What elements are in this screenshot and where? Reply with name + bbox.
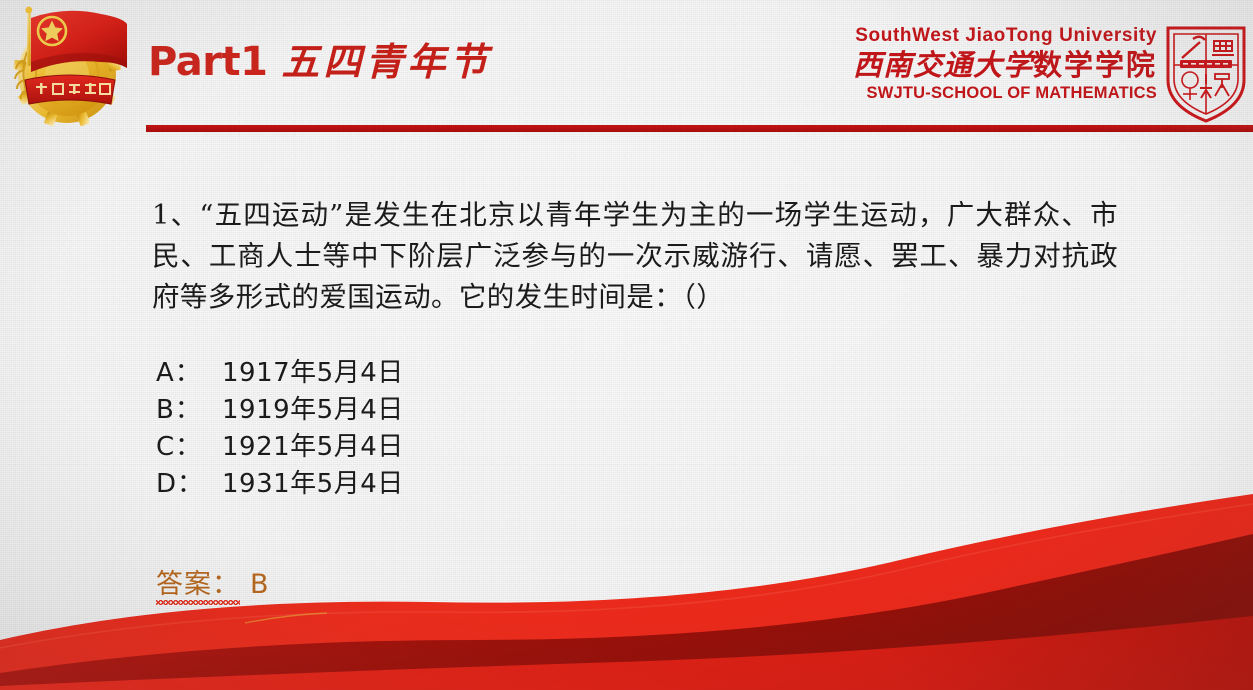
option-text-a: 1917年5月4日	[222, 352, 404, 389]
brand-chinese: 西南交通大学数学学院	[853, 51, 1157, 80]
page-title-cjk: 五四青年节	[281, 39, 491, 84]
option-key-d: D：	[156, 463, 222, 500]
answer-label: 答案：	[156, 569, 240, 603]
swjtu-shield-logo	[1163, 22, 1249, 126]
communist-youth-league-emblem	[5, 4, 137, 132]
page-title-latin: Part1	[148, 39, 267, 85]
option-text-d: 1931年5月4日	[222, 463, 404, 500]
option-key-a: A：	[156, 352, 222, 389]
options-list: A： 1917年5月4日 B： 1919年5月4日 C： 1921年5月4日 D…	[156, 352, 404, 500]
slide-header: Part1五四青年节 SouthWest JiaoTong University…	[0, 0, 1253, 140]
option-key-c: C：	[156, 426, 222, 463]
option-row-b[interactable]: B： 1919年5月4日	[156, 389, 404, 426]
option-row-a[interactable]: A： 1917年5月4日	[156, 352, 404, 389]
brand-english-bottom: SWJTU-SCHOOL OF MATHEMATICS	[853, 85, 1157, 102]
header-divider	[146, 125, 1253, 132]
option-row-d[interactable]: D： 1931年5月4日	[156, 463, 404, 500]
brand-chinese-department: 数学学院	[1033, 48, 1157, 82]
page-title: Part1五四青年节	[148, 42, 491, 82]
university-brand: SouthWest JiaoTong University 西南交通大学数学学院…	[853, 26, 1157, 102]
brand-chinese-university: 西南交通大学	[853, 48, 1033, 82]
option-text-b: 1919年5月4日	[222, 389, 404, 426]
option-text-c: 1921年5月4日	[222, 426, 404, 463]
option-key-b: B：	[156, 389, 222, 426]
question-text: 1、“五四运动”是发生在北京以青年学生为主的一场学生运动，广大群众、市民、工商人…	[152, 195, 1118, 318]
option-row-c[interactable]: C： 1921年5月4日	[156, 426, 404, 463]
brand-english-top: SouthWest JiaoTong University	[853, 26, 1157, 45]
answer-value: B	[250, 569, 270, 600]
slide-root: Part1五四青年节 SouthWest JiaoTong University…	[0, 0, 1253, 690]
answer-line: 答案：B	[156, 562, 270, 601]
